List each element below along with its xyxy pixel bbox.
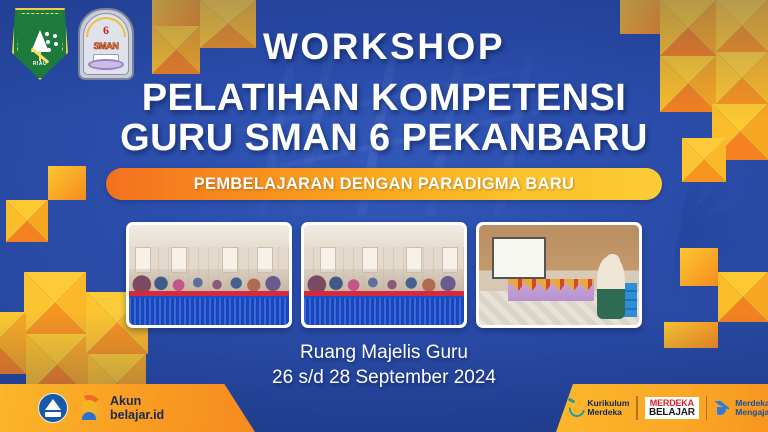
- kurikulum-line-2: Merdeka: [587, 407, 622, 417]
- footer-left-logos: Akun belajar.id: [0, 384, 255, 432]
- footer-right-logos: Kurikulum Merdeka MERDEKA BELAJAR Merdek…: [556, 384, 768, 432]
- merdeka-mengajar-logo: Merdeka Mengajar: [714, 399, 768, 418]
- photo-strip: [126, 222, 642, 328]
- title-line-1: PELATIHAN KOMPETENSI: [0, 78, 768, 118]
- subtitle-text: PEMBELAJARAN DENGAN PARADIGMA BARU: [194, 175, 575, 194]
- riau-emblem-label: RIAU: [14, 61, 66, 67]
- photo-participants-seated-tables: [304, 225, 464, 325]
- photo-card: [301, 222, 467, 328]
- kurikulum-swoosh-icon: [567, 399, 583, 417]
- photo-card: [476, 222, 642, 328]
- page-title: PELATIHAN KOMPETENSI GURU SMAN 6 PEKANBA…: [0, 78, 768, 158]
- emblem-base-ellipse: [88, 59, 124, 70]
- cotton-dots: [45, 32, 59, 54]
- merdeka-mengajar-label: Merdeka Mengajar: [735, 399, 768, 418]
- kurikulum-line-1: Kurikulum: [587, 398, 629, 408]
- venue-name: Ruang Majelis Guru: [0, 340, 768, 365]
- kurikulum-merdeka-logo: Kurikulum Merdeka: [567, 399, 629, 418]
- photo-card: [126, 222, 292, 328]
- riau-provincial-emblem-icon: RIAU: [12, 8, 68, 80]
- institution-logos: RIAU 6 SMAN: [12, 8, 134, 80]
- mengajar-line-1: Merdeka: [735, 398, 768, 408]
- mengajar-line-2: Mengajar: [735, 407, 768, 417]
- belajar-id-icon: [76, 395, 102, 421]
- kurikulum-merdeka-label: Kurikulum Merdeka: [587, 399, 629, 418]
- photo-participants-hall-wide: [129, 225, 289, 325]
- sman-6-school-emblem-icon: 6 SMAN: [78, 8, 134, 80]
- belajar-word: BELAJAR: [649, 408, 695, 417]
- mengajar-checkmark-icon: [714, 400, 731, 416]
- school-name-short: SMAN: [94, 41, 119, 51]
- photo-presenter-with-projector: [479, 225, 639, 325]
- school-number: 6: [103, 23, 109, 38]
- tut-wuri-handayani-icon: [38, 393, 68, 423]
- event-details: Ruang Majelis Guru 26 s/d 28 September 2…: [0, 340, 768, 390]
- title-line-2: GURU SMAN 6 PEKANBARU: [0, 118, 768, 158]
- akun-line-1: Akun: [110, 394, 141, 408]
- logo-divider: [706, 396, 708, 420]
- akun-belajar-label: Akun belajar.id: [110, 394, 164, 422]
- merdeka-belajar-logo: MERDEKA BELAJAR: [645, 397, 699, 419]
- workshop-banner: RIAU 6 SMAN WORKSHOP PELATIHAN KOMPETENS…: [0, 0, 768, 432]
- akun-line-2: belajar.id: [110, 408, 164, 422]
- logo-divider: [636, 396, 638, 420]
- subtitle-pill: PEMBELAJARAN DENGAN PARADIGMA BARU: [106, 168, 662, 200]
